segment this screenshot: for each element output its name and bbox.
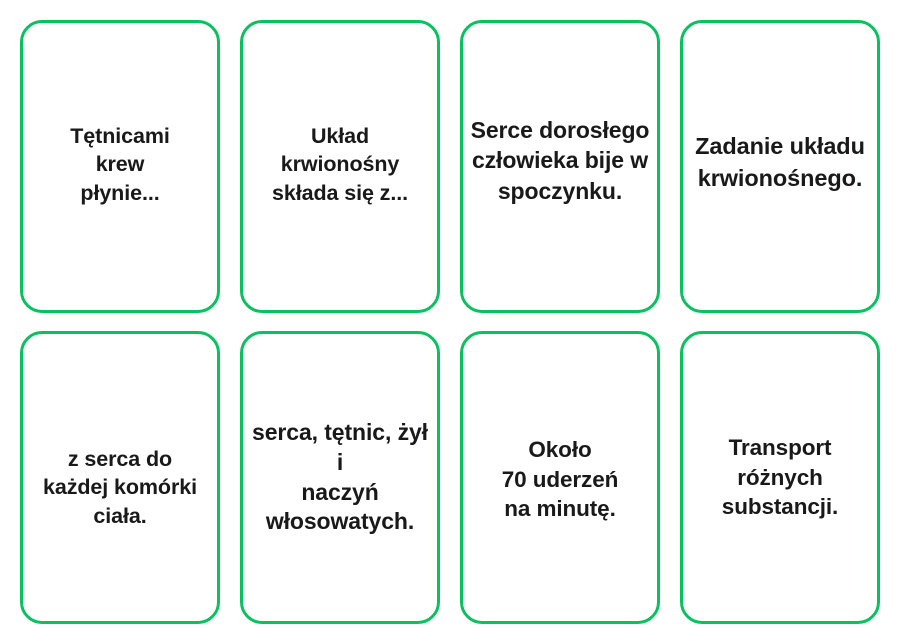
flashcard-3[interactable]: Serce dorosłego człowieka bije w spoczyn…	[460, 20, 660, 313]
flashcard-6[interactable]: serca, tętnic, żył i naczyń włosowatych.	[240, 331, 440, 624]
flashcard-5-text: z serca do każdej komórki ciała.	[8, 445, 232, 531]
flashcard-4-text: Zadanie układu krwionośnego.	[668, 131, 892, 194]
flashcard-1-text: Tętnicami krew płynie...	[8, 122, 232, 208]
flashcard-7-text: Około 70 uderzeń na minutę.	[448, 435, 672, 525]
flashcard-3-text: Serce dorosłego człowieka bije w spoczyn…	[448, 115, 672, 207]
flashcard-7[interactable]: Około 70 uderzeń na minutę.	[460, 331, 660, 624]
flashcard-6-text: serca, tętnic, żył i naczyń włosowatych.	[228, 418, 452, 538]
flashcard-grid: Tętnicami krew płynie... Układ krwionośn…	[20, 20, 880, 624]
flashcard-4[interactable]: Zadanie układu krwionośnego.	[680, 20, 880, 313]
flashcard-8[interactable]: Transport różnych substancji.	[680, 331, 880, 624]
flashcard-1[interactable]: Tętnicami krew płynie...	[20, 20, 220, 313]
flashcard-8-text: Transport różnych substancji.	[668, 433, 892, 523]
flashcard-2-text: Układ krwionośny składa się z...	[228, 122, 452, 208]
flashcard-5[interactable]: z serca do każdej komórki ciała.	[20, 331, 220, 624]
flashcard-sheet: Tętnicami krew płynie... Układ krwionośn…	[0, 0, 900, 636]
flashcard-2[interactable]: Układ krwionośny składa się z...	[240, 20, 440, 313]
